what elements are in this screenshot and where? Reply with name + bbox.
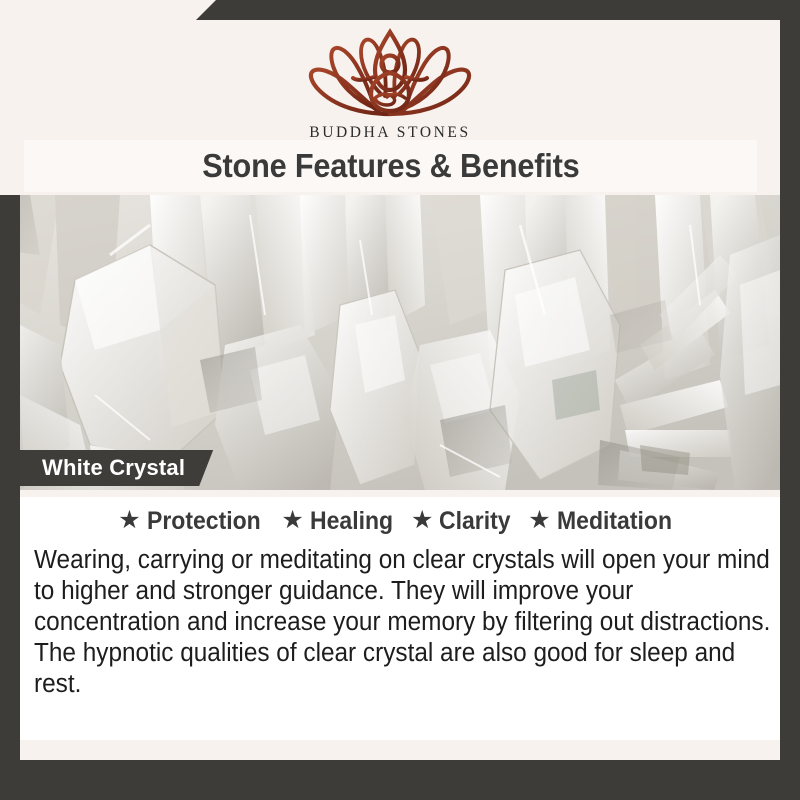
benefit-label: Clarity	[439, 507, 511, 536]
lotus-meditation-icon	[0, 22, 780, 120]
benefit-label: Protection	[147, 507, 261, 536]
benefit-label: Healing	[310, 507, 393, 536]
description-text: Wearing, carrying or meditating on clear…	[34, 545, 771, 700]
star-icon: ★	[411, 508, 433, 533]
photo-caption-label: White Crystal	[42, 455, 185, 481]
benefit-item: ★ Clarity	[411, 507, 517, 536]
brand-logo: BUDDHA STONES	[0, 22, 780, 142]
star-icon: ★	[118, 508, 140, 533]
white-crystal-cluster-photo	[0, 195, 780, 490]
benefits-list: ★ Protection ★ Healing ★ Clarity ★ Medit…	[20, 497, 780, 536]
benefit-item: ★ Meditation	[528, 507, 681, 536]
star-icon: ★	[528, 508, 550, 533]
benefit-item: ★ Protection	[118, 507, 270, 536]
star-icon: ★	[281, 508, 303, 533]
poster: BUDDHA STONES Stone Features & Benefits	[0, 0, 800, 800]
photo-caption-tag: White Crystal	[20, 450, 213, 486]
content-panel: ★ Protection ★ Healing ★ Clarity ★ Medit…	[20, 497, 780, 740]
title-bar: Stone Features & Benefits	[24, 140, 757, 192]
frame-band-bottom	[0, 760, 800, 800]
frame-band-left	[0, 195, 20, 760]
page-title: Stone Features & Benefits	[202, 147, 579, 185]
frame-band-right	[780, 0, 800, 800]
benefit-item: ★ Healing	[281, 507, 400, 536]
benefit-label: Meditation	[557, 507, 672, 536]
